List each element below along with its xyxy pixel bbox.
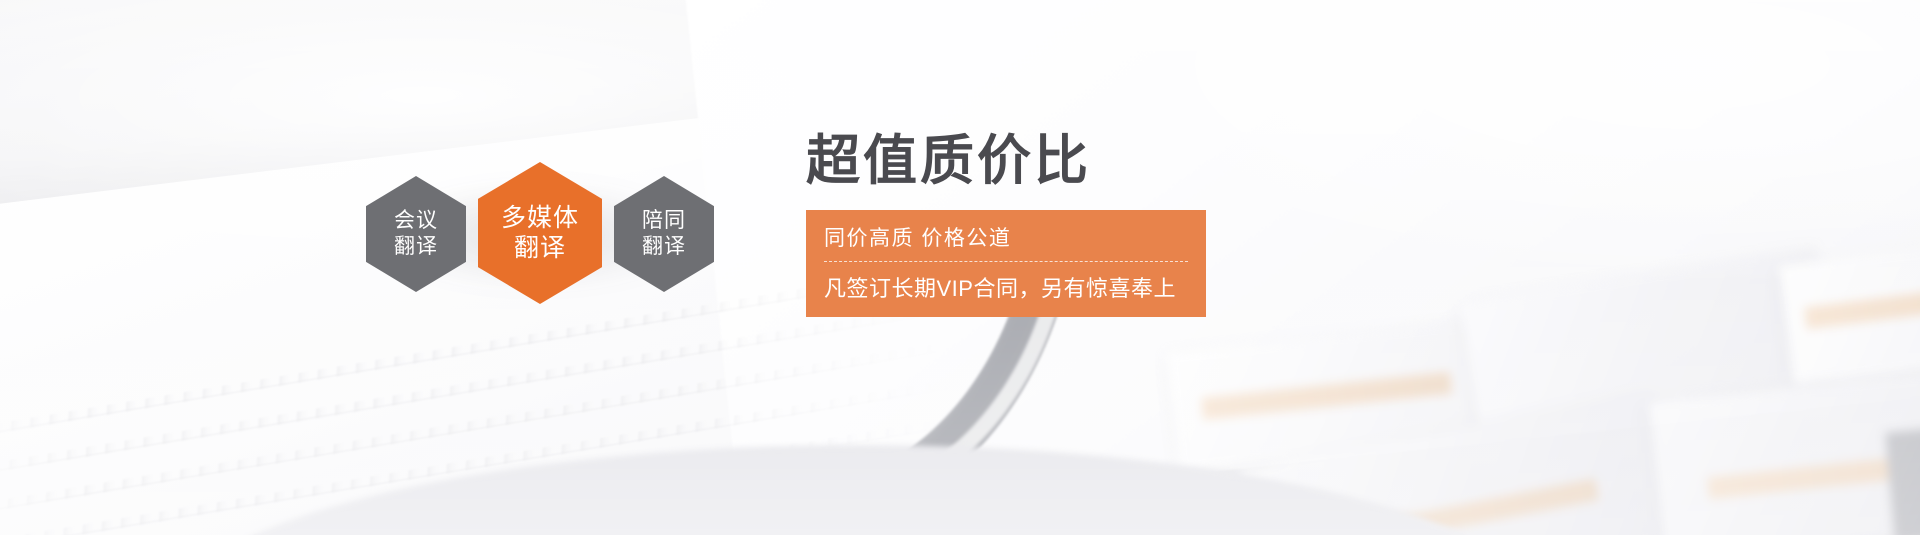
promo-line-primary: 同价高质 价格公道 (824, 222, 1188, 261)
hexagon-label-line2: 翻译 (514, 233, 566, 264)
promo-box: 同价高质 价格公道 凡签订长期VIP合同，另有惊喜奉上 (806, 210, 1206, 317)
hexagon-label-line1: 陪同 (642, 208, 686, 234)
promo-line-secondary: 凡签订长期VIP合同，另有惊喜奉上 (824, 271, 1188, 303)
promo-banner: 会议 翻译 多媒体 翻译 陪同 翻译 超值质价比 同价高质 价格公道 凡签订长期… (0, 0, 1920, 535)
hexagon-label-line2: 翻译 (642, 234, 686, 260)
banner-headline: 超值质价比 (806, 134, 1206, 188)
hexagon-label-line1: 会议 (394, 208, 438, 234)
hexagon-badge-escort[interactable]: 陪同 翻译 (614, 176, 714, 292)
hexagon-label-line2: 翻译 (394, 234, 438, 260)
hexagon-badge-multimedia[interactable]: 多媒体 翻译 (478, 162, 602, 304)
hexagon-label-line1: 多媒体 (501, 203, 579, 234)
service-hexagon-group: 会议 翻译 多媒体 翻译 陪同 翻译 (366, 162, 714, 304)
copy-block: 超值质价比 同价高质 价格公道 凡签订长期VIP合同，另有惊喜奉上 (806, 134, 1206, 317)
promo-dashed-divider (824, 261, 1188, 262)
hexagon-badge-conference[interactable]: 会议 翻译 (366, 176, 466, 292)
